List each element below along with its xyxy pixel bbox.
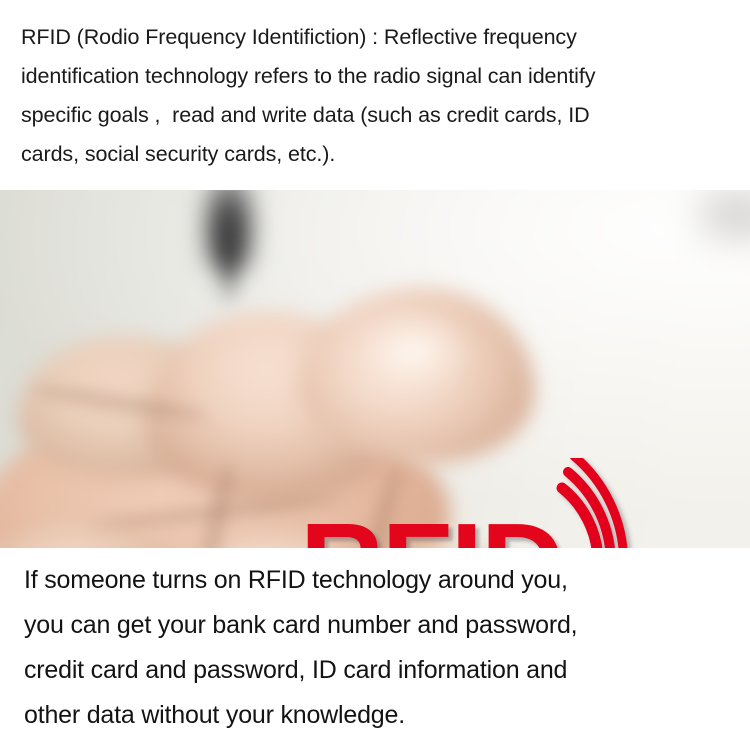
- bottom-paragraph-line-2: you can get your bank card number and pa…: [24, 603, 736, 648]
- hand-subject: [0, 310, 530, 548]
- background-soft-blob-right: [690, 190, 750, 250]
- top-paragraph-line-4: cards, social security cards, etc.).: [21, 135, 734, 174]
- bottom-paragraph-line-1: If someone turns on RFID technology arou…: [24, 558, 736, 603]
- top-description-block: RFID (Rodio Frequency Identifiction) : R…: [0, 0, 750, 190]
- top-paragraph-line-2: identification technology refers to the …: [21, 57, 734, 96]
- background-dark-object-tail: [214, 210, 244, 302]
- bottom-description-block: If someone turns on RFID technology arou…: [0, 548, 750, 750]
- top-paragraph-line-3: specific goals , read and write data (su…: [21, 96, 734, 135]
- photo-image-layer: [0, 190, 750, 548]
- fingernail-highlight: [362, 318, 466, 392]
- bottom-paragraph-line-3: credit card and password, ID card inform…: [24, 648, 736, 693]
- rfid-hand-photo: RFID: [0, 190, 750, 548]
- bottom-paragraph-line-4: other data without your knowledge.: [24, 693, 736, 738]
- top-paragraph-line-1: RFID (Rodio Frequency Identifiction) : R…: [21, 18, 734, 57]
- rfid-info-graphic: RFID (Rodio Frequency Identifiction) : R…: [0, 0, 750, 750]
